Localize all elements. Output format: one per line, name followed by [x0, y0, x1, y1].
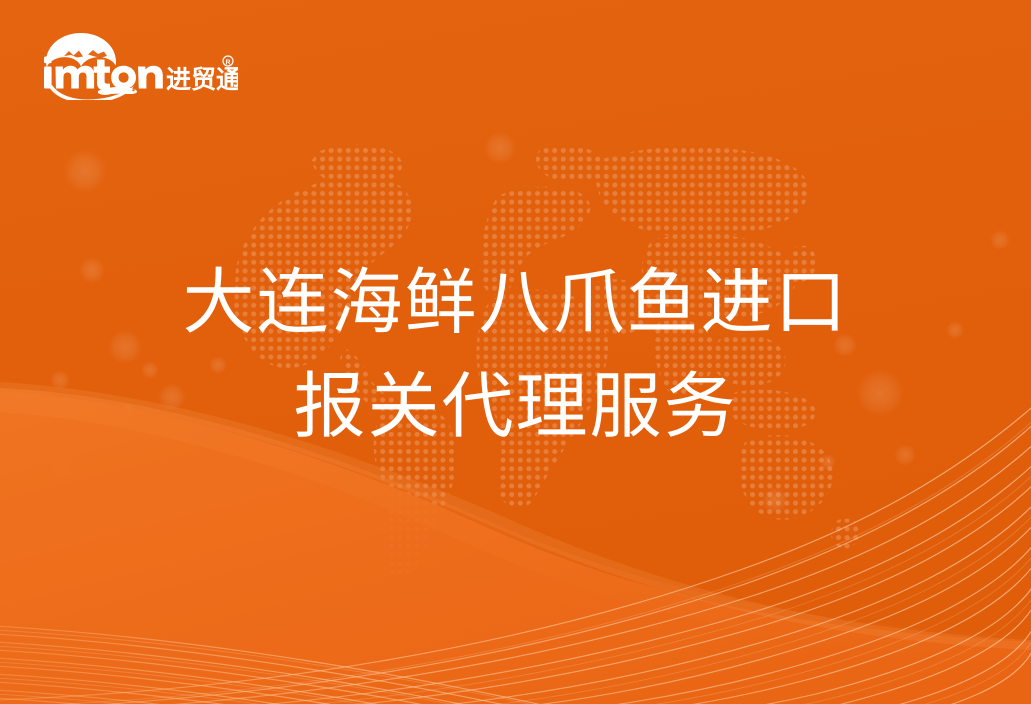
page-title: 大连海鲜八爪鱼进口 报关代理服务	[0, 252, 1031, 459]
svg-text:R: R	[225, 59, 230, 66]
globe-arc-icon	[46, 33, 116, 67]
logo-wordmark-chinese: 进贸通	[166, 66, 238, 94]
logo-wordmark-latin	[44, 57, 163, 91]
imton-jinmaotong-logo[interactable]: 进贸通 R	[38, 30, 238, 100]
headline-line-2: 报关代理服务	[0, 356, 1031, 460]
headline-line-1: 大连海鲜八爪鱼进口	[0, 252, 1031, 356]
promo-banner: 进贸通 R 大连海鲜八爪鱼进口 报关代理服务	[0, 0, 1031, 704]
registered-trademark-icon: R	[223, 56, 233, 66]
